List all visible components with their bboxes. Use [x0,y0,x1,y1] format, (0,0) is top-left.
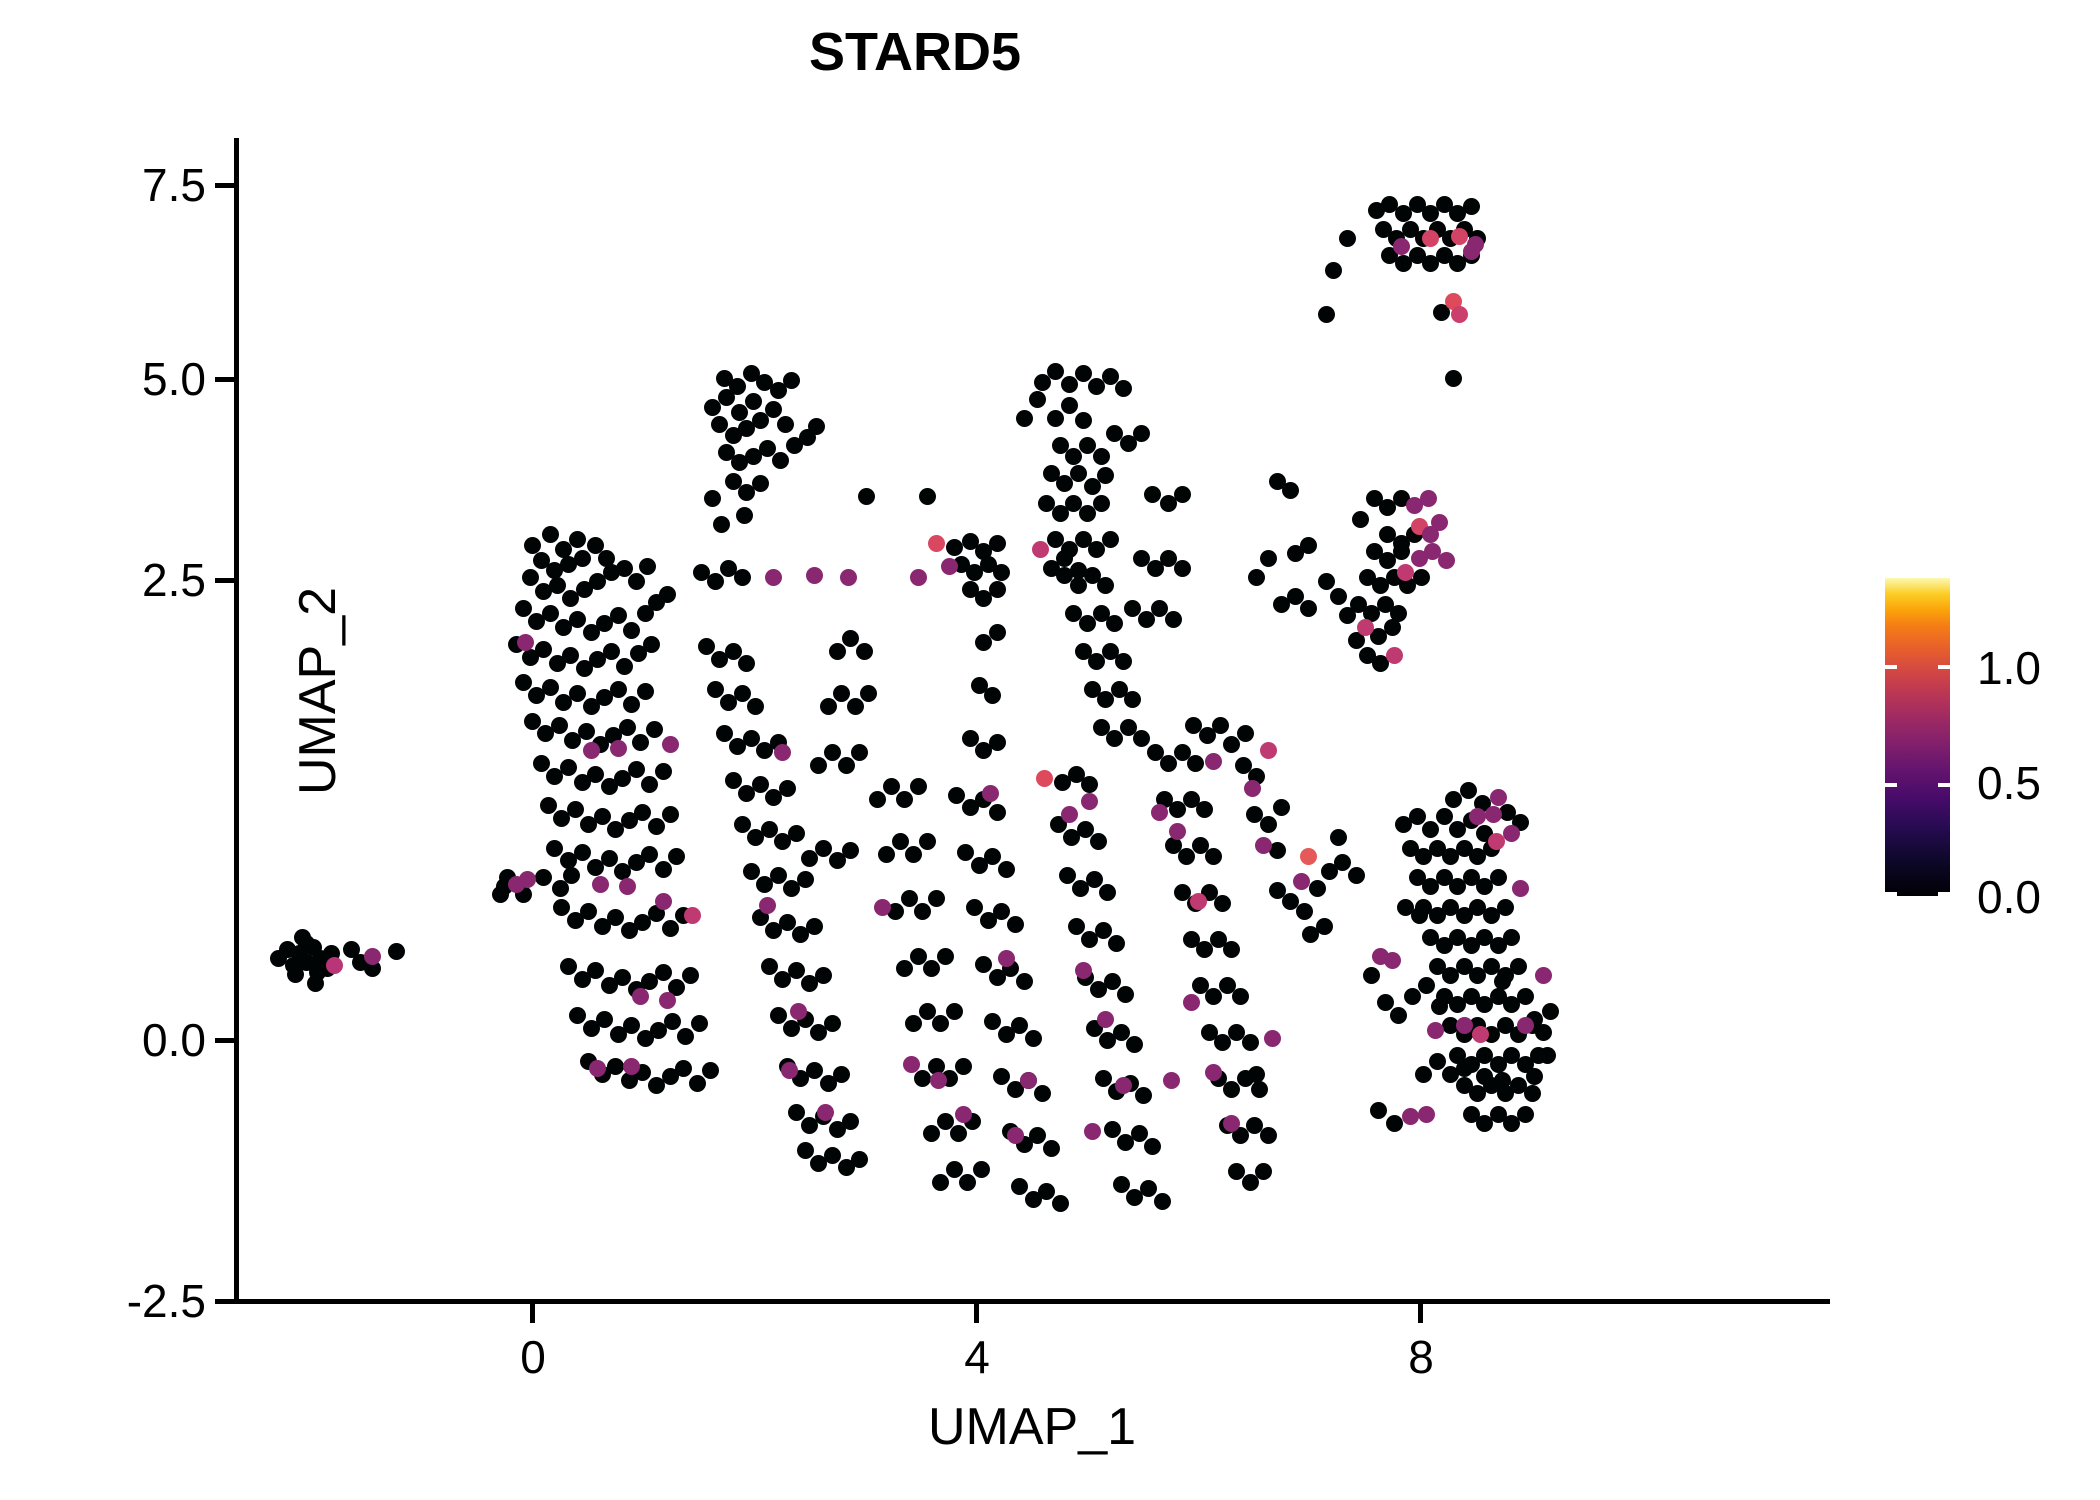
scatter-point [858,488,875,505]
y-tick-label-0-0: 0.0 [142,1017,206,1063]
color-legend[interactable] [1885,578,1950,896]
scatter-point [774,744,791,761]
scatter-point [1214,895,1231,912]
scatter-point [664,1013,681,1030]
scatter-point [560,759,577,776]
scatter-point [623,696,640,713]
scatter-point [1309,880,1326,897]
scatter-point [1497,899,1514,916]
scatter-point [1133,425,1150,442]
scatter-point [1330,829,1347,846]
scatter-point [745,393,762,410]
scatter-point [998,861,1015,878]
scatter-point [646,721,663,738]
scatter-point [824,744,841,761]
scatter-point [326,957,343,974]
scatter-point [820,698,837,715]
scatter-point [1075,962,1092,979]
scatter-point [734,685,751,702]
scatter-point [1102,368,1119,385]
x-tick-mark-0 [530,1304,535,1323]
scatter-point [580,903,597,920]
scatter-point [1205,753,1222,770]
scatter-point [1503,929,1520,946]
scatter-point [1169,823,1186,840]
scatter-point [294,929,311,946]
scatter-point [932,1174,949,1191]
scatter-point [806,1062,823,1079]
legend-tick-0-0-right [1938,892,1950,896]
scatter-point [603,643,620,660]
scatter-point [1488,833,1505,850]
scatter-point [1393,543,1410,560]
scatter-point [1099,884,1116,901]
scatter-point [1029,391,1046,408]
scatter-point [874,899,891,916]
scatter-point [1445,370,1462,387]
scatter-point [1212,717,1229,734]
scatter-point [655,861,672,878]
scatter-point [567,801,584,818]
x-tick-mark-4 [974,1304,979,1323]
scatter-point [1456,1060,1473,1077]
scatter-point [562,647,579,664]
scatter-point [1163,1072,1180,1089]
scatter-point [659,992,676,1009]
scatter-point [1494,973,1511,990]
scatter-point [833,685,850,702]
scatter-point [1248,1066,1265,1083]
scatter-point [1126,1036,1143,1053]
scatter-point [492,886,509,903]
scatter-point [1260,742,1277,759]
scatter-point [607,1058,624,1075]
scatter-point [1436,808,1453,825]
scatter-point [1339,607,1356,624]
scatter-point [1059,867,1076,884]
scatter-point [781,1062,798,1079]
scatter-point [698,638,715,655]
y-tick-mark-7-5 [215,183,234,188]
scatter-point [1115,380,1132,397]
scatter-point [1348,867,1365,884]
scatter-point [1451,228,1468,245]
scatter-point [563,867,580,884]
scatter-point [869,791,886,808]
scatter-point [1047,410,1064,427]
scatter-point [860,685,877,702]
scatter-point [1244,780,1261,797]
scatter-point [937,948,954,965]
scatter-point [1372,948,1389,965]
scatter-point [984,848,1001,865]
scatter-point [1517,1106,1534,1123]
scatter-point [574,844,591,861]
scatter-point [1011,1017,1028,1034]
scatter-point [1420,490,1437,507]
scatter-point [1377,994,1394,1011]
scatter-point [1390,1007,1407,1024]
scatter-point [1174,560,1191,577]
scatter-point [1300,848,1317,865]
scatter-point [1510,958,1527,975]
scatter-point [1339,230,1356,247]
scatter-point [1020,1072,1037,1089]
scatter-point [1300,537,1317,554]
scatter-point [560,958,577,975]
scatter-point [1352,511,1369,528]
scatter-point [364,948,381,965]
scatter-point [878,846,895,863]
scatter-point [950,1125,967,1142]
scatter-point [702,1062,719,1079]
scatter-point [788,825,805,842]
scatter-point [1081,793,1098,810]
scatter-point [1097,577,1114,594]
scatter-point [1413,569,1430,586]
scatter-point [1370,1102,1387,1119]
scatter-point [905,1015,922,1032]
scatter-point [1386,1115,1403,1132]
scatter-point [623,622,640,639]
scatter-point [729,378,746,395]
scatter-point [632,734,649,751]
scatter-point [684,907,701,924]
scatter-point [1517,988,1534,1005]
x-axis-label: UMAP_1 [234,1398,1830,1456]
scatter-point [542,526,559,543]
scatter-point [1108,935,1125,952]
scatter-point [1418,977,1435,994]
scatter-point [628,761,645,778]
scatter-point [1334,854,1351,871]
scatter-point [896,791,913,808]
scatter-point [905,846,922,863]
scatter-point [1038,1183,1055,1200]
scatter-point [824,1147,841,1164]
scatter-point [790,1003,807,1020]
scatter-point [1113,1176,1130,1193]
scatter-point [1025,1030,1042,1047]
scatter-point [587,962,604,979]
scatter-point [1526,1068,1543,1085]
scatter-point [1463,243,1480,260]
scatter-point [946,539,963,556]
scatter-point [388,943,405,960]
scatter-point [743,863,760,880]
scatter-point [1542,1003,1559,1020]
scatter-point [1036,770,1053,787]
scatter-point [569,611,586,628]
scatter-point [1318,306,1335,323]
scatter-point [1075,365,1092,382]
scatter-point [619,878,636,895]
x-tick-label-4: 4 [937,1334,1017,1380]
scatter-point [815,840,832,857]
scatter-point [540,797,557,814]
scatter-point [689,1075,706,1092]
scatter-point [752,776,769,793]
scatter-point [655,763,672,780]
scatter-point [553,899,570,916]
scatter-point [747,698,764,715]
scatter-point [847,698,864,715]
scatter-point [583,742,600,759]
x-axis-line [234,1299,1830,1304]
scatter-point [569,685,586,702]
scatter-plot-panel [239,140,1830,1299]
scatter-point [1187,755,1204,772]
scatter-point [1427,1022,1444,1039]
scatter-point [569,1007,586,1024]
y-tick-mark-5-0 [215,377,234,382]
scatter-point [637,683,654,700]
scatter-point [1451,306,1468,323]
scatter-point [982,785,999,802]
scatter-point [998,950,1015,967]
scatter-point [616,658,633,675]
scatter-point [1205,848,1222,865]
scatter-point [1190,893,1207,910]
scatter-point [989,624,1006,641]
scatter-point [829,643,846,660]
scatter-point [713,516,730,533]
scatter-point [648,818,665,835]
scatter-point [522,569,539,586]
scatter-point [842,1113,859,1130]
scatter-point [1293,873,1310,890]
scatter-point [1260,550,1277,567]
scatter-point [993,1068,1010,1085]
scatter-point [1264,1030,1281,1047]
scatter-point [779,780,796,797]
scatter-point [966,899,983,916]
scatter-point [975,956,992,973]
scatter-point [1512,880,1529,897]
scatter-point [734,569,751,586]
scatter-point [1415,1066,1432,1083]
scatter-point [1539,1047,1556,1064]
scatter-point [1490,869,1507,886]
scatter-point [677,1028,694,1045]
scatter-point [806,918,823,935]
scatter-point [842,630,859,647]
scatter-point [1524,1085,1541,1102]
scatter-point [1393,238,1410,255]
scatter-point [601,850,618,867]
scatter-point [842,842,859,859]
scatter-point [614,969,631,986]
scatter-point [806,567,823,584]
scatter-point [623,1017,640,1034]
scatter-point [1115,1077,1132,1094]
scatter-point [704,490,721,507]
scatter-point [1296,903,1313,920]
y-tick-label-7-5: 7.5 [142,162,206,208]
y-tick-label-5-0: 5.0 [142,356,206,402]
scatter-point [662,736,679,753]
scatter-point [923,1125,940,1142]
scatter-point [1325,262,1342,279]
scatter-point [928,890,945,907]
scatter-point [639,558,656,575]
scatter-point [928,535,945,552]
scatter-point [1124,691,1141,708]
scatter-point [919,833,936,850]
scatter-point [1061,397,1078,414]
scatter-point [761,958,778,975]
scatter-point [1070,465,1087,482]
scatter-point [892,833,909,850]
scatter-point [957,844,974,861]
scatter-point [1011,1178,1028,1195]
scatter-point [1273,799,1290,816]
scatter-point [948,787,965,804]
scatter-point [1016,973,1033,990]
y-tick-label-2-5: 2.5 [142,557,206,603]
scatter-point [1104,973,1121,990]
scatter-point [759,440,776,457]
scatter-point [840,569,857,586]
scatter-point [989,581,1006,598]
legend-label-0-0: 0.0 [1977,874,2041,920]
scatter-point [1438,552,1455,569]
scatter-point [815,967,832,984]
scatter-point [1472,1026,1489,1043]
scatter-point [659,586,676,603]
scatter-point [993,564,1010,581]
scatter-point [1422,821,1439,838]
scatter-point [607,909,624,926]
scatter-point [1445,791,1462,808]
scatter-point [1237,725,1254,742]
scatter-point [1135,1087,1152,1104]
scatter-point [1535,967,1552,984]
scatter-point [675,1060,692,1077]
scatter-point [989,535,1006,552]
scatter-point [851,744,868,761]
legend-tick-0-5-right [1938,783,1950,787]
scatter-point [1386,647,1403,664]
scatter-point [1034,1085,1051,1102]
scatter-point [1363,967,1380,984]
scatter-point [1090,833,1107,850]
scatter-point [883,778,900,795]
scatter-point [1144,1138,1161,1155]
scatter-point [1133,730,1150,747]
scatter-point [1097,467,1114,484]
scatter-point [903,1056,920,1073]
scatter-point [770,867,787,884]
scatter-point [707,573,724,590]
page-title: STARD5 [0,22,1830,82]
scatter-point [1260,816,1277,833]
scatter-point [707,681,724,698]
scatter-point [542,605,559,622]
scatter-point [662,920,679,937]
scatter-point [1242,1034,1259,1051]
scatter-point [655,893,672,910]
scatter-point [1081,776,1098,793]
scatter-point [923,960,940,977]
scatter-point [973,1161,990,1178]
scatter-point [946,1003,963,1020]
scatter-point [519,871,536,888]
scatter-point [1075,412,1092,429]
scatter-point [589,1060,606,1077]
scatter-point [1043,1140,1060,1157]
scatter-point [668,848,685,865]
scatter-point [623,1058,640,1075]
scatter-point [989,734,1006,751]
scatter-point [662,806,679,823]
y-tick-mark-2-5 [215,578,234,583]
scatter-point [592,876,609,893]
scatter-point [1117,986,1134,1003]
scatter-point [1144,486,1161,503]
scatter-point [984,687,1001,704]
scatter-point [738,655,755,672]
scatter-point [838,757,855,774]
scatter-point [824,1015,841,1032]
scatter-point [632,988,649,1005]
scatter-point [1068,918,1085,935]
scatter-point [919,488,936,505]
scatter-point [772,452,789,469]
scatter-point [1431,514,1448,531]
scatter-point [641,776,658,793]
scatter-point [1463,198,1480,215]
scatter-point [765,401,782,418]
scatter-point [1418,1106,1435,1123]
scatter-point [1316,918,1333,935]
scatter-point [1097,1011,1114,1028]
scatter-point [1104,1121,1121,1138]
legend-label-0-5: 0.5 [1977,760,2041,806]
scatter-point [628,573,645,590]
scatter-point [759,897,776,914]
scatter-point [1402,1108,1419,1125]
scatter-point [610,607,627,624]
scatter-point [587,766,604,783]
scatter-point [1485,806,1502,823]
scatter-point [752,475,769,492]
scatter-point [1490,789,1507,806]
scatter-point [619,719,636,736]
scatter-point [810,757,827,774]
x-tick-label-0: 0 [493,1334,573,1380]
scatter-point [993,903,1010,920]
scatter-point [1140,1180,1157,1197]
scatter-point [1409,808,1426,825]
scatter-point [910,569,927,586]
scatter-point [856,643,873,660]
scatter-point [1102,531,1119,548]
scatter-point [1029,1127,1046,1144]
scatter-point [1007,916,1024,933]
scatter-point [1431,998,1448,1015]
x-tick-mark-8 [1418,1304,1423,1323]
scatter-point [1357,619,1374,636]
scatter-point [989,804,1006,821]
scatter-point [734,816,751,833]
scatter-point [655,964,672,981]
scatter-point [914,903,931,920]
scatter-point [851,1151,868,1168]
scatter-point [1093,448,1110,465]
scatter-point [641,846,658,863]
scatter-point [1052,1195,1069,1212]
